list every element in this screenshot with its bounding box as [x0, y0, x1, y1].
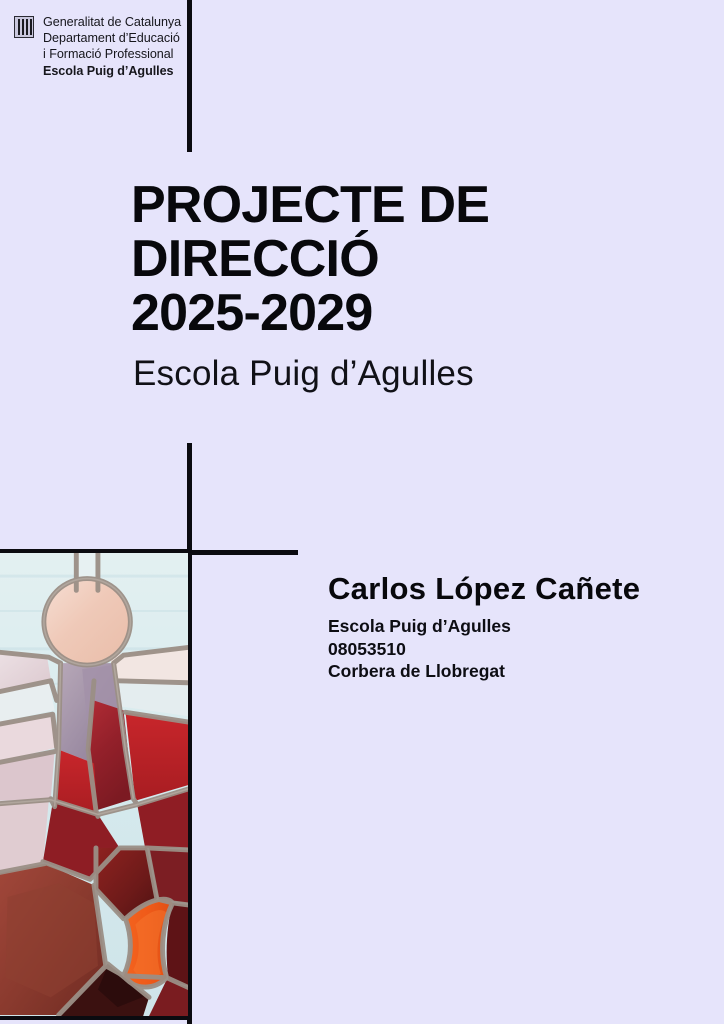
title-line-1: PROJECTE DE [131, 178, 651, 232]
title-line-3: 2025-2029 [131, 286, 651, 340]
header-line-escola: Escola Puig d’Agulles [43, 63, 181, 79]
emblem-bar-4 [30, 19, 32, 35]
author-town: Corbera de Llobregat [328, 660, 708, 683]
page-title: PROJECTE DE DIRECCIÓ 2025-2029 [131, 178, 651, 340]
institutional-header: Generalitat de Catalunya Departament d’E… [14, 14, 181, 79]
emblem-bar-1 [18, 19, 20, 35]
vertical-rule-top [187, 0, 192, 152]
horizontal-rule [187, 550, 298, 555]
header-line-generalitat: Generalitat de Catalunya [43, 14, 181, 30]
institutional-header-text: Generalitat de Catalunya Departament d’E… [43, 14, 181, 79]
title-line-2: DIRECCIÓ [131, 232, 651, 286]
header-line-departament: Departament d’Educació [43, 30, 181, 46]
author-center-code: 08053510 [328, 638, 708, 661]
page-subtitle: Escola Puig d’Agulles [133, 354, 474, 394]
emblem-bar-3 [26, 19, 28, 35]
author-name: Carlos López Cañete [328, 570, 708, 608]
stained-glass-cover-photo [0, 549, 192, 1020]
document-cover-page: Generalitat de Catalunya Departament d’E… [0, 0, 724, 1024]
author-block: Carlos López Cañete Escola Puig d’Agulle… [328, 570, 708, 683]
generalitat-four-bars-icon [14, 16, 34, 38]
emblem-bar-2 [22, 19, 24, 35]
author-school: Escola Puig d’Agulles [328, 615, 708, 638]
header-line-formacio: i Formació Professional [43, 46, 181, 62]
